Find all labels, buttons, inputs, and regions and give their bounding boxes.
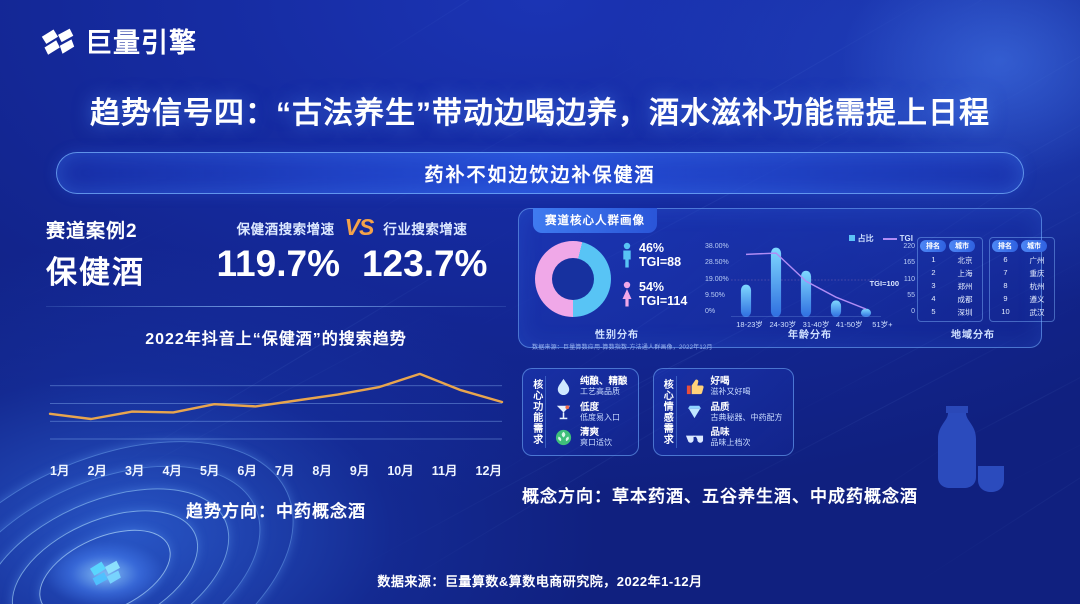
panel-source-note: 数据来源：巨量算数应用-算数指数-方法通人群画像，2022年12月 xyxy=(532,342,713,351)
table-row: 2上海 xyxy=(920,267,980,280)
need-item-main: 品质 xyxy=(711,402,783,413)
rank-cell: 6 xyxy=(992,254,1019,267)
table-row: 8杭州 xyxy=(992,280,1052,293)
case-label: 赛道案例2 xyxy=(46,216,186,243)
need-item-list: 纯酿、精酿工艺高品质低度低度易入口清爽爽口适饮 xyxy=(554,376,628,448)
need-item-text: 清爽爽口适饮 xyxy=(580,427,612,448)
legend-line: TGI xyxy=(883,234,913,243)
juliang-logo-mark-icon xyxy=(40,26,76,60)
table-row: 7重庆 xyxy=(992,267,1052,280)
col-rank: 排名 xyxy=(920,240,946,252)
city-table-left: 排名 城市 1北京2上海3郑州4成都5深圳 xyxy=(917,237,983,322)
y2-tick: 55 xyxy=(907,292,915,299)
col-rank: 排名 xyxy=(992,240,1018,252)
need-item-main: 纯酿、精酿 xyxy=(580,376,628,387)
female-stats: 54% TGI=114 xyxy=(639,280,687,309)
city-tables: 排名 城市 1北京2上海3郑州4成都5深圳 排名 城市 6广州7重庆8杭州9遵义… xyxy=(917,237,1055,322)
concept-direction: 概念方向：草本药酒、五谷养生酒、中成药概念酒 xyxy=(522,482,918,507)
line-chart-x-labels: 1月2月3月4月5月6月7月8月9月10月11月12月 xyxy=(46,460,506,479)
need-item-sub: 工艺高品质 xyxy=(580,387,628,397)
need-box-title: 核心功能需求 xyxy=(529,376,546,448)
city-cell: 武汉 xyxy=(1022,306,1052,319)
audience-panel-tag: 赛道核心人群画像 xyxy=(533,208,657,233)
water-drop-icon xyxy=(554,377,573,396)
case-name: 保健酒 xyxy=(46,247,186,292)
vs-left-value: 119.7% xyxy=(217,243,340,285)
table-row: 6广州 xyxy=(992,254,1052,267)
city-table-right-head: 排名 城市 xyxy=(992,240,1052,252)
need-item-sub: 古典秘器、中药配方 xyxy=(711,413,783,423)
cocktail-glass-icon xyxy=(554,402,573,421)
need-item: 纯酿、精酿工艺高品质 xyxy=(554,376,628,397)
city-cell: 深圳 xyxy=(950,306,980,319)
rank-cell: 7 xyxy=(992,267,1019,280)
y-tick: 28.50% xyxy=(705,259,729,266)
region-caption: 地域分布 xyxy=(915,326,1031,341)
month-label: 10月 xyxy=(387,460,413,479)
table-row: 10武汉 xyxy=(992,306,1052,319)
rank-cell: 8 xyxy=(992,280,1019,293)
month-label: 3月 xyxy=(125,460,144,479)
rank-cell: 5 xyxy=(920,306,947,319)
city-cell: 成都 xyxy=(950,293,980,306)
tgi-baseline-label: TGI=100 xyxy=(870,279,899,288)
need-item-text: 好喝滋补又好喝 xyxy=(711,376,751,397)
need-item-main: 好喝 xyxy=(711,376,751,387)
source-line: 数据来源：巨量算数&算数电商研究院，2022年1-12月 xyxy=(0,571,1080,590)
region-distribution: 排名 城市 1北京2上海3郑州4成都5深圳 排名 城市 6广州7重庆8杭州9遵义… xyxy=(915,235,1031,343)
table-row: 5深圳 xyxy=(920,306,980,319)
male-icon xyxy=(621,242,633,268)
city-cell: 上海 xyxy=(950,267,980,280)
y2-tick: 110 xyxy=(904,276,915,283)
search-trend-chart xyxy=(46,359,506,455)
female-tgi: TGI=114 xyxy=(639,294,687,308)
vs-right-value: 123.7% xyxy=(362,243,488,285)
need-item-main: 低度 xyxy=(580,402,620,413)
city-cell: 重庆 xyxy=(1022,267,1052,280)
month-label: 2月 xyxy=(87,460,106,479)
gender-donut-chart xyxy=(535,241,611,317)
line-chart-svg xyxy=(46,359,506,455)
age-chart-y2-axis: 220165110550 xyxy=(903,243,915,315)
table-row: 9遵义 xyxy=(992,293,1052,306)
rank-cell: 2 xyxy=(920,267,947,280)
vs-mark: VS xyxy=(345,214,374,241)
vs-right-header: 行业搜索增速 xyxy=(383,218,467,238)
need-item-text: 低度低度易入口 xyxy=(580,402,620,423)
need-item: 低度低度易入口 xyxy=(554,402,628,423)
city-table-right: 排名 城市 6广州7重庆8杭州9遵义10武汉 xyxy=(989,237,1055,322)
trend-direction: 趋势方向：中药概念酒 xyxy=(46,497,506,522)
need-box-2: 核心情感需求好喝滋补又好喝品质古典秘器、中药配方品味品味上档次 xyxy=(653,368,794,456)
line-chart-title: 2022年抖音上“保健酒”的搜索趋势 xyxy=(46,325,506,349)
divider xyxy=(46,306,506,307)
audience-panel: 赛道核心人群画像 46% TGI=88 xyxy=(518,208,1042,348)
need-item-text: 纯酿、精酿工艺高品质 xyxy=(580,376,628,397)
rank-cell: 1 xyxy=(920,254,947,267)
y2-tick: 165 xyxy=(903,259,915,266)
brand-logo: 巨量引擎 xyxy=(40,26,197,60)
gender-legend: 46% TGI=88 54% TGI=114 xyxy=(621,241,687,319)
table-row: 3郑州 xyxy=(920,280,980,293)
y-tick: 9.50% xyxy=(705,292,729,299)
subtitle-banner-text: 药补不如边饮边补保健酒 xyxy=(424,160,655,187)
y-tick: 0% xyxy=(705,308,729,315)
city-cell: 广州 xyxy=(1022,254,1052,267)
need-item: 清爽爽口适饮 xyxy=(554,427,628,448)
brand-name: 巨量引擎 xyxy=(85,30,197,57)
sunglasses-icon xyxy=(685,428,704,447)
need-boxes: 核心功能需求纯酿、精酿工艺高品质低度低度易入口清爽爽口适饮核心情感需求好喝滋补又… xyxy=(522,368,794,456)
y2-tick: 220 xyxy=(903,243,915,250)
need-item-text: 品味品味上档次 xyxy=(711,427,751,448)
y-tick: 38.00% xyxy=(705,243,729,250)
rank-cell: 4 xyxy=(920,293,947,306)
age-bar-chart-svg xyxy=(731,243,881,317)
vs-values: 119.7% 123.7% xyxy=(198,243,506,285)
city-cell: 郑州 xyxy=(950,280,980,293)
female-icon xyxy=(621,281,633,307)
city-cell: 遵义 xyxy=(1022,293,1052,306)
need-item-text: 品质古典秘器、中药配方 xyxy=(711,402,783,423)
need-item: 好喝滋补又好喝 xyxy=(685,376,783,397)
need-item: 品味品味上档次 xyxy=(685,427,783,448)
month-label: 12月 xyxy=(476,460,502,479)
need-box-1: 核心功能需求纯酿、精酿工艺高品质低度低度易入口清爽爽口适饮 xyxy=(522,368,639,456)
leaf-ball-icon xyxy=(554,428,573,447)
thumbs-up-icon xyxy=(685,377,704,396)
city-cell: 杭州 xyxy=(1022,280,1052,293)
y-tick: 19.00% xyxy=(705,276,729,283)
kpi-row: 赛道案例2 保健酒 保健酒搜索增速 VS 行业搜索增速 119.7% 123.7… xyxy=(46,214,506,292)
case-block: 赛道案例2 保健酒 xyxy=(46,214,186,292)
age-distribution: 占比 TGI 38.00%28.50%19.00%9.50%0% 2201651… xyxy=(705,235,915,343)
city-cell: 北京 xyxy=(950,254,980,267)
month-label: 1月 xyxy=(50,460,69,479)
vs-block: 保健酒搜索增速 VS 行业搜索增速 119.7% 123.7% xyxy=(186,214,506,285)
table-row: 1北京 xyxy=(920,254,980,267)
need-item-sub: 品味上档次 xyxy=(711,438,751,448)
sake-bottle-icon xyxy=(902,392,1022,512)
page-title: 趋势信号四：“古法养生”带动边喝边养，酒水滋补功能需提上日程 xyxy=(0,88,1080,132)
col-city: 城市 xyxy=(1021,240,1047,252)
need-item-sub: 低度易入口 xyxy=(580,413,620,423)
audience-panel-body: 46% TGI=88 54% TGI=114 性别分布 xyxy=(529,235,1031,343)
month-label: 9月 xyxy=(350,460,369,479)
gender-item-male: 46% TGI=88 xyxy=(621,241,687,270)
left-column: 赛道案例2 保健酒 保健酒搜索增速 VS 行业搜索增速 119.7% 123.7… xyxy=(46,214,506,522)
male-stats: 46% TGI=88 xyxy=(639,241,681,270)
gender-item-female: 54% TGI=114 xyxy=(621,280,687,309)
need-box-title: 核心情感需求 xyxy=(660,376,677,448)
rank-cell: 9 xyxy=(992,293,1019,306)
age-chart-y-axis: 38.00%28.50%19.00%9.50%0% xyxy=(705,243,729,315)
female-pct: 54% xyxy=(639,280,687,294)
vs-headers: 保健酒搜索增速 VS 行业搜索增速 xyxy=(198,214,506,241)
subtitle-banner: 药补不如边饮边补保健酒 xyxy=(56,152,1024,194)
month-label: 5月 xyxy=(200,460,219,479)
month-label: 8月 xyxy=(312,460,331,479)
age-caption: 年龄分布 xyxy=(705,326,915,341)
month-label: 6月 xyxy=(237,460,256,479)
need-item: 品质古典秘器、中药配方 xyxy=(685,402,783,423)
gender-distribution: 46% TGI=88 54% TGI=114 性别分布 xyxy=(529,235,705,343)
male-pct: 46% xyxy=(639,241,681,255)
city-table-left-head: 排名 城市 xyxy=(920,240,980,252)
rank-cell: 3 xyxy=(920,280,947,293)
rank-cell: 10 xyxy=(992,306,1019,319)
need-item-list: 好喝滋补又好喝品质古典秘器、中药配方品味品味上档次 xyxy=(685,376,783,448)
male-tgi: TGI=88 xyxy=(639,255,681,269)
need-item-main: 品味 xyxy=(711,427,751,438)
col-city: 城市 xyxy=(949,240,975,252)
diamond-icon xyxy=(685,402,704,421)
need-item-sub: 爽口适饮 xyxy=(580,438,612,448)
need-item-sub: 滋补又好喝 xyxy=(711,387,751,397)
need-item-main: 清爽 xyxy=(580,427,612,438)
month-label: 4月 xyxy=(162,460,181,479)
table-row: 4成都 xyxy=(920,293,980,306)
month-label: 7月 xyxy=(275,460,294,479)
gender-caption: 性别分布 xyxy=(529,326,705,341)
month-label: 11月 xyxy=(432,460,458,479)
vs-left-header: 保健酒搜索增速 xyxy=(237,218,335,238)
